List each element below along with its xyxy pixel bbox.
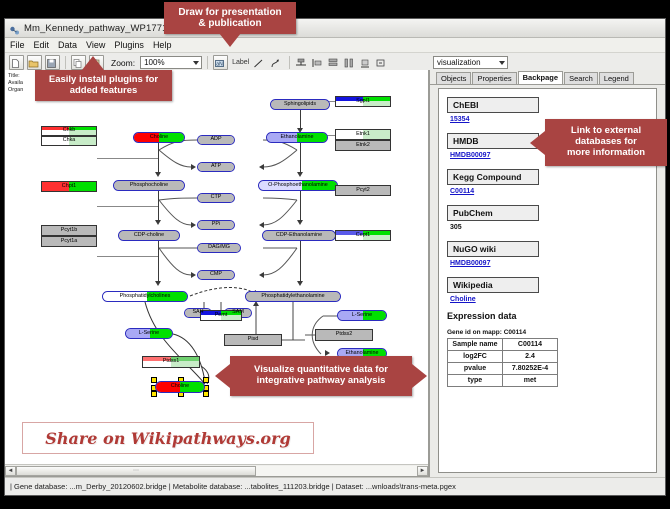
node-label: O-Phosphoethanolamine xyxy=(268,183,328,188)
pathway-canvas[interactable]: Title: Availa Organ xyxy=(5,70,429,477)
node-label: Sphingolipids xyxy=(284,102,316,107)
app-icon xyxy=(9,23,20,34)
gene-node[interactable]: Chka xyxy=(41,136,97,146)
metabolite-node[interactable]: ATP xyxy=(197,162,235,172)
metabolite-node[interactable]: Choline xyxy=(155,381,205,393)
callout-visualize: Visualize quantitative data for integrat… xyxy=(230,356,412,396)
zoom-label: Zoom: xyxy=(111,58,135,68)
node-label: Cept1 xyxy=(356,233,370,238)
chevron-down-icon xyxy=(193,61,199,65)
gene-node[interactable]: Chpt1 xyxy=(41,181,97,192)
node-label: Pisd xyxy=(248,337,259,342)
callout-link-arrow-icon xyxy=(530,131,545,155)
table-cell-key: pvalue xyxy=(448,363,503,375)
metabolite-node[interactable]: O-Phosphoethanolamine xyxy=(258,180,338,191)
scroll-left-icon[interactable]: ◄ xyxy=(5,466,16,476)
chevron-down-icon xyxy=(499,61,505,65)
interaction-tool-group[interactable] xyxy=(270,56,284,69)
datanode-icon[interactable]: aN xyxy=(213,55,228,70)
table-cell-value: 2.4 xyxy=(503,351,558,363)
table-row: Sample nameC00114 xyxy=(448,339,558,351)
node-label: SAM xyxy=(232,310,244,315)
expression-data-title: Expression data xyxy=(447,311,648,321)
database-name-header: PubChem xyxy=(447,205,539,221)
node-label: Pcyt2 xyxy=(356,188,369,193)
scroll-track[interactable]: ⋯ xyxy=(16,466,417,476)
gene-node[interactable]: Sgpl1 xyxy=(335,96,391,107)
metabolite-node[interactable]: CMP xyxy=(197,270,235,280)
table-cell-key: log2FC xyxy=(448,351,503,363)
metabolite-node[interactable]: L-Serine xyxy=(337,310,387,321)
label-tool-text: Label xyxy=(232,59,249,66)
tab-properties[interactable]: Properties xyxy=(472,72,516,85)
node-label: Sgpl1 xyxy=(356,99,370,104)
callout-visualize-line2: integrative pathway analysis xyxy=(254,376,388,387)
distribute-horizontal-icon[interactable] xyxy=(343,56,356,69)
metabolite-node[interactable]: CTP xyxy=(197,193,235,203)
svg-text:aN: aN xyxy=(216,61,223,67)
node-label: Pcyt1b xyxy=(61,228,77,233)
node-label: Phosphocholine xyxy=(130,183,168,188)
node-label: Chkb xyxy=(63,128,76,133)
tab-backpage[interactable]: Backpage xyxy=(518,71,563,85)
metabolite-node[interactable]: Choline xyxy=(133,132,185,143)
callout-link-line3: more information xyxy=(567,148,645,159)
node-label: CDP-choline xyxy=(134,233,164,238)
node-label: ADP xyxy=(210,137,221,142)
metabolite-node[interactable]: Sphingolipids xyxy=(270,99,330,110)
metabolite-node[interactable]: L-Serine xyxy=(125,328,173,339)
node-label: Phosphatidylethanolamine xyxy=(261,294,324,299)
menu-bar: File Edit Data View Plugins Help xyxy=(5,38,665,53)
table-cell-key: Sample name xyxy=(448,339,503,351)
database-value: 305 xyxy=(450,224,648,231)
arrow-interaction-icon[interactable] xyxy=(270,56,283,69)
menu-plugins[interactable]: Plugins xyxy=(114,40,144,50)
tab-search[interactable]: Search xyxy=(564,72,598,85)
tab-legend[interactable]: Legend xyxy=(599,72,634,85)
callout-share: Share on Wikipathways.org xyxy=(22,422,314,454)
gene-node[interactable]: Etnk1 xyxy=(335,129,391,140)
gene-node[interactable]: Chkb xyxy=(41,126,97,136)
gene-node[interactable]: Ptdss2 xyxy=(315,329,373,341)
menu-file[interactable]: File xyxy=(10,40,25,50)
node-label: DAG/MG xyxy=(208,245,230,250)
node-label: SAH xyxy=(192,310,203,315)
gene-node[interactable]: Cept1 xyxy=(335,230,391,241)
database-name-header: ChEBI xyxy=(447,97,539,113)
database-name-header: Kegg Compound xyxy=(447,169,539,185)
callout-visualize-arrow-left-icon xyxy=(215,364,230,388)
node-label: ATP xyxy=(211,164,221,169)
metabolite-node[interactable]: CDP-Ethanolamine xyxy=(262,230,336,241)
node-label: Choline xyxy=(150,135,168,140)
label-tool-group[interactable]: Label xyxy=(232,59,250,66)
menu-view[interactable]: View xyxy=(86,40,105,50)
table-cell-value: 7.80252E-4 xyxy=(503,363,558,375)
line-icon[interactable] xyxy=(253,56,266,69)
group-icon[interactable] xyxy=(375,56,388,69)
metabolite-node[interactable]: Phosphatidylcholines xyxy=(102,291,188,302)
screenshot-root: Mm_Kennedy_pathway_WP1771_45176.gpml Fil… xyxy=(0,0,670,509)
node-label: Pcyt1a xyxy=(61,239,77,244)
gene-node[interactable]: Pisd xyxy=(224,334,282,346)
callout-draw-arrow-icon xyxy=(219,33,241,47)
metabolite-node[interactable]: ADP xyxy=(197,135,235,145)
status-bar: | Gene database: ...m_Derby_20120602.bri… xyxy=(5,477,665,495)
gene-node[interactable]: Pcyt1b xyxy=(41,225,97,236)
tab-objects[interactable]: Objects xyxy=(436,72,471,85)
metabolite-node[interactable]: Phosphatidylethanolamine xyxy=(245,291,341,302)
node-label: PPi xyxy=(212,222,220,227)
node-label: Pemt xyxy=(215,313,228,318)
node-label: CMP xyxy=(210,272,222,277)
node-label: Chka xyxy=(63,138,76,143)
node-label: Phosphatidylcholines xyxy=(120,294,171,299)
callout-draw-line2: & publication xyxy=(178,18,281,30)
visualization-value: visualization xyxy=(437,58,481,67)
database-link[interactable]: HMDB00097 xyxy=(450,260,648,267)
gene-node[interactable]: Etnk2 xyxy=(335,140,391,151)
callout-draw: Draw for presentation & publication xyxy=(164,2,296,34)
metabolite-node[interactable]: Phosphocholine xyxy=(113,180,185,191)
scroll-right-icon[interactable]: ► xyxy=(417,466,428,476)
share-text: Share on Wikipathways.org xyxy=(45,429,290,448)
database-name-header: NuGO wiki xyxy=(447,241,539,257)
gene-node[interactable]: Pcyt1a xyxy=(41,236,97,247)
database-name-header: HMDB xyxy=(447,133,539,149)
callout-plugins-line1: Easily install plugins for xyxy=(49,75,158,86)
node-label: Ptdss1 xyxy=(163,359,179,364)
visualization-combobox[interactable]: visualization xyxy=(433,56,508,69)
metabolite-node[interactable]: PPi xyxy=(197,220,235,230)
metabolite-node[interactable]: DAG/MG xyxy=(197,243,241,253)
database-name-header: Wikipedia xyxy=(447,277,539,293)
metabolite-node[interactable]: CDP-choline xyxy=(118,230,180,241)
scroll-thumb[interactable]: ⋯ xyxy=(16,466,256,476)
gene-id-line: Gene id on mapp: C00114 xyxy=(447,329,648,336)
distribute-vertical-icon[interactable] xyxy=(327,56,340,69)
expression-data-table: Sample nameC00114log2FC2.4pvalue7.80252E… xyxy=(447,338,558,387)
database-link[interactable]: C00114 xyxy=(450,188,648,195)
node-label: CTP xyxy=(211,195,222,200)
node-label: Etnk1 xyxy=(356,132,370,137)
node-label: Chpt1 xyxy=(62,184,76,189)
toolbar-separator-2 xyxy=(207,56,208,69)
menu-help[interactable]: Help xyxy=(153,40,172,50)
align-center-icon[interactable] xyxy=(295,56,308,69)
callout-draw-line1: Draw for presentation xyxy=(178,7,281,19)
menu-edit[interactable]: Edit xyxy=(34,40,50,50)
zoom-combobox[interactable]: 100% xyxy=(140,56,202,69)
node-label: L-Serine xyxy=(352,313,372,318)
database-link[interactable]: Choline xyxy=(450,296,648,303)
metabolite-node[interactable]: Ethanolamine xyxy=(266,132,328,143)
table-row: pvalue7.80252E-4 xyxy=(448,363,558,375)
canvas-hscrollbar[interactable]: ◄ ⋯ ► xyxy=(5,464,428,476)
zoom-value: 100% xyxy=(144,58,164,67)
table-cell-value: C00114 xyxy=(503,339,558,351)
line-tool-group[interactable] xyxy=(253,56,267,69)
callout-visualize-arrow-right-icon xyxy=(412,364,427,388)
stack-icon[interactable] xyxy=(359,56,372,69)
side-panel-tabs: Objects Properties Backpage Search Legen… xyxy=(430,70,665,85)
toolbar-separator xyxy=(65,56,66,69)
open-folder-icon[interactable] xyxy=(27,55,42,70)
callout-plugins-arrow-icon xyxy=(82,56,104,70)
callout-plugins: Easily install plugins for added feature… xyxy=(35,70,172,101)
align-left-icon[interactable] xyxy=(311,56,324,69)
node-label: Ethanolamine xyxy=(281,135,314,140)
gene-node[interactable]: Ptdss1 xyxy=(142,356,200,368)
gene-node[interactable]: Pcyt2 xyxy=(335,185,391,196)
table-cell-key: type xyxy=(448,375,503,387)
callout-plugins-line2: added features xyxy=(49,86,158,97)
node-label: CDP-Ethanolamine xyxy=(276,233,322,238)
node-label: L-Serine xyxy=(139,331,159,336)
table-cell-value: met xyxy=(503,375,558,387)
datanode-tool-group[interactable]: aN xyxy=(213,55,229,70)
callout-link: Link to external databases for more info… xyxy=(545,119,667,166)
menu-data[interactable]: Data xyxy=(58,40,77,50)
node-label: Etnk2 xyxy=(356,143,370,148)
toolbar-separator-3 xyxy=(289,56,290,69)
new-file-icon[interactable] xyxy=(9,55,24,70)
table-row: log2FC2.4 xyxy=(448,351,558,363)
table-row: typemet xyxy=(448,375,558,387)
status-text: | Gene database: ...m_Derby_20120602.bri… xyxy=(10,482,456,491)
save-icon[interactable] xyxy=(45,55,60,70)
node-label: Ptdss2 xyxy=(336,332,352,337)
title-bar: Mm_Kennedy_pathway_WP1771_45176.gpml xyxy=(5,19,665,38)
node-label: Choline xyxy=(171,384,189,389)
